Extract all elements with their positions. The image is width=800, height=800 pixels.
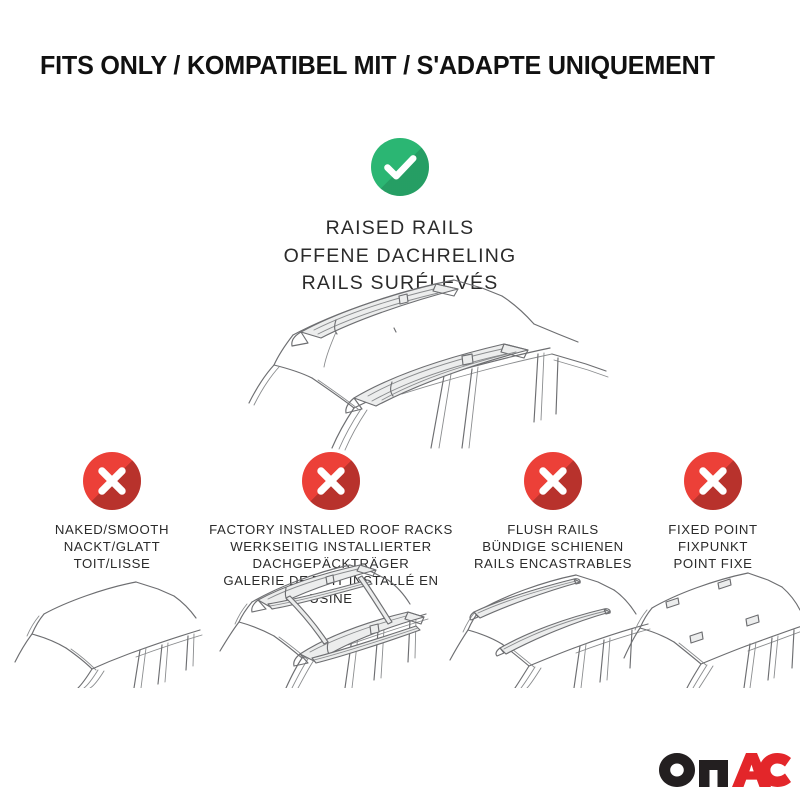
- option-label-en: FLUSH RAILS: [452, 521, 654, 538]
- car-roof-factory-racks-illustration: [208, 552, 452, 688]
- option-label-de: BÜNDIGE SCHIENEN: [452, 538, 654, 555]
- badge-wrap: [452, 452, 654, 512]
- option-labels: NAKED/SMOOTH NACKT/GLATT TOIT/LISSE: [12, 521, 212, 572]
- compatible-label-en: RAISED RAILS: [0, 215, 800, 243]
- cross-icon: [524, 452, 582, 510]
- page-title: FITS ONLY / KOMPATIBEL MIT / S'ADAPTE UN…: [40, 52, 769, 81]
- option-label-en: NAKED/SMOOTH: [12, 521, 212, 538]
- option-fixed-point: FIXED POINT FIXPUNKT POINT FIXE: [632, 452, 794, 572]
- option-flush-rails: FLUSH RAILS BÜNDIGE SCHIENEN RAILS ENCAS…: [452, 452, 654, 572]
- car-roof-naked-smooth-illustration: [8, 570, 208, 688]
- cross-icon: [684, 452, 742, 510]
- badge-wrap: [200, 452, 462, 512]
- car-roof-raised-rails-illustration: [186, 272, 626, 452]
- car-roof-flush-rails-illustration: [444, 564, 652, 688]
- option-label-en: FIXED POINT: [632, 521, 794, 538]
- cross-icon: [83, 452, 141, 510]
- badge-wrap: [632, 452, 794, 512]
- badge-wrap: [12, 452, 212, 512]
- incompatible-section: NAKED/SMOOTH NACKT/GLATT TOIT/LISSE FACT…: [0, 452, 800, 702]
- omac-logo: [658, 752, 792, 788]
- compatible-label-de: OFFENE DACHRELING: [0, 243, 800, 271]
- car-roof-fixed-point-illustration: [622, 560, 800, 688]
- option-label-en: FACTORY INSTALLED ROOF RACKS: [200, 521, 462, 538]
- option-label-de: NACKT/GLATT: [12, 538, 212, 555]
- option-label-de: FIXPUNKT: [632, 538, 794, 555]
- cross-icon: [302, 452, 360, 510]
- option-naked-smooth: NAKED/SMOOTH NACKT/GLATT TOIT/LISSE: [12, 452, 212, 572]
- check-icon: [371, 138, 429, 196]
